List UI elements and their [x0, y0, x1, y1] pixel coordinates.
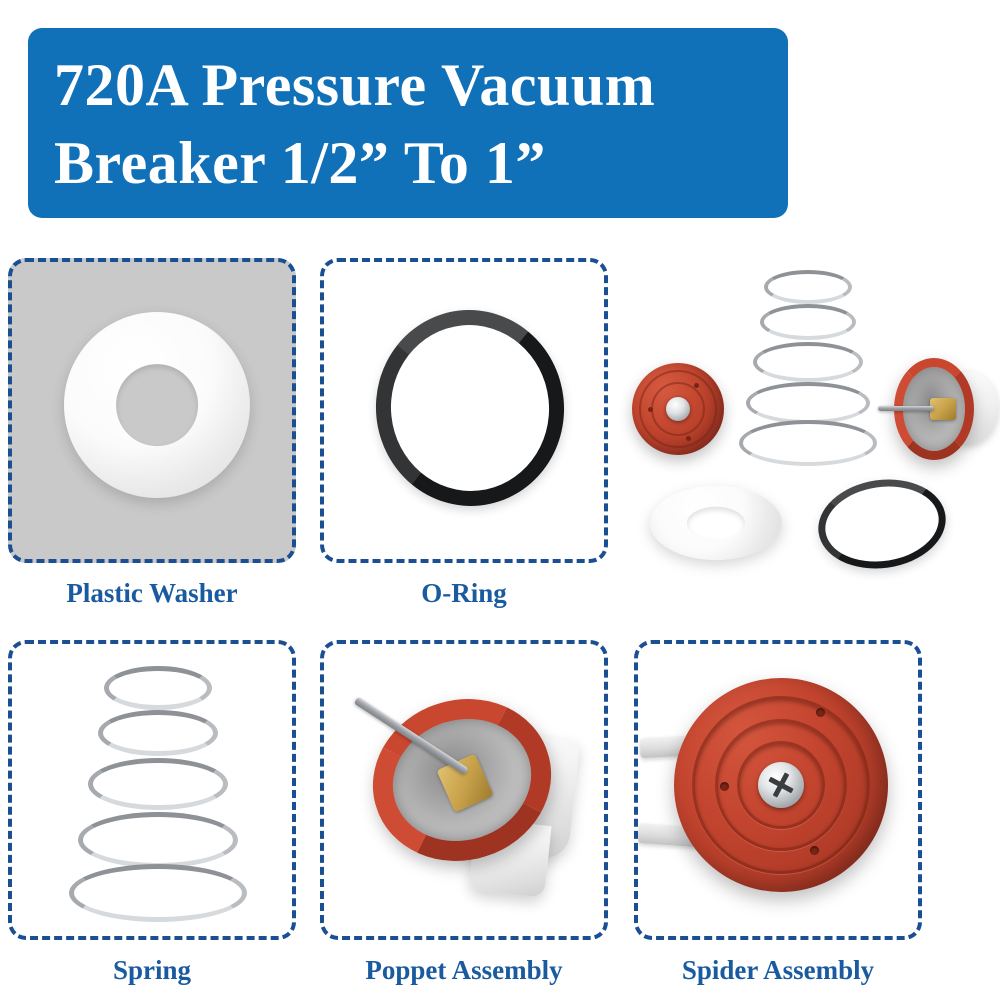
- card-plastic-washer[interactable]: [8, 258, 296, 563]
- spring-icon: [68, 666, 248, 922]
- group-spider-assembly-icon: [632, 363, 724, 455]
- poppet-assembly-part: [324, 644, 604, 936]
- hole: [694, 383, 699, 388]
- coil: [98, 710, 218, 756]
- caption-plastic-washer: Plastic Washer: [8, 578, 296, 608]
- plastic-washer-icon: [64, 312, 250, 498]
- spider-hole: [720, 782, 729, 791]
- spider-assembly-part: [638, 644, 918, 936]
- card-spider-assembly[interactable]: [634, 640, 922, 940]
- poppet-stem: [878, 406, 934, 411]
- group-poppet-assembly-icon: [888, 358, 998, 463]
- spider-hole: [810, 846, 819, 855]
- caption-spider-assembly: Spider Assembly: [634, 955, 922, 985]
- coil: [78, 812, 238, 868]
- group-spider-screw-icon: [666, 397, 690, 421]
- title-banner: 720A Pressure Vacuum Breaker 1/2” To 1”: [28, 28, 788, 218]
- o-ring-part: [324, 262, 604, 559]
- coil: [88, 758, 228, 810]
- caption-spring: Spring: [8, 955, 296, 985]
- card-spring[interactable]: [8, 640, 296, 940]
- title-line-2: Breaker 1/2” To 1”: [54, 124, 788, 202]
- caption-o-ring: O-Ring: [320, 578, 608, 608]
- spider-assembly-icon: [674, 678, 888, 892]
- coil: [739, 420, 877, 466]
- card-o-ring[interactable]: [320, 258, 608, 563]
- group-plastic-washer-icon: [650, 486, 782, 560]
- caption-poppet-assembly: Poppet Assembly: [320, 955, 608, 985]
- plastic-washer-part: [12, 262, 292, 559]
- spider-hole: [816, 708, 825, 717]
- coil: [753, 342, 863, 382]
- poppet-assembly-icon: [344, 674, 594, 914]
- coil: [746, 382, 870, 424]
- group-o-ring-icon: [812, 472, 951, 577]
- hole: [686, 436, 691, 441]
- title-line-1: 720A Pressure Vacuum: [54, 46, 788, 124]
- group-photo: [620, 258, 995, 568]
- spider-screw-icon: [758, 762, 804, 808]
- infographic-page: 720A Pressure Vacuum Breaker 1/2” To 1” …: [0, 0, 1000, 1000]
- spring-part: [12, 644, 292, 936]
- coil: [764, 270, 852, 304]
- card-poppet-assembly[interactable]: [320, 640, 608, 940]
- coil: [69, 864, 247, 922]
- coil: [760, 304, 856, 340]
- o-ring-icon: [366, 301, 573, 516]
- hole: [648, 407, 653, 412]
- group-spring-icon: [738, 268, 878, 468]
- coil: [104, 666, 212, 710]
